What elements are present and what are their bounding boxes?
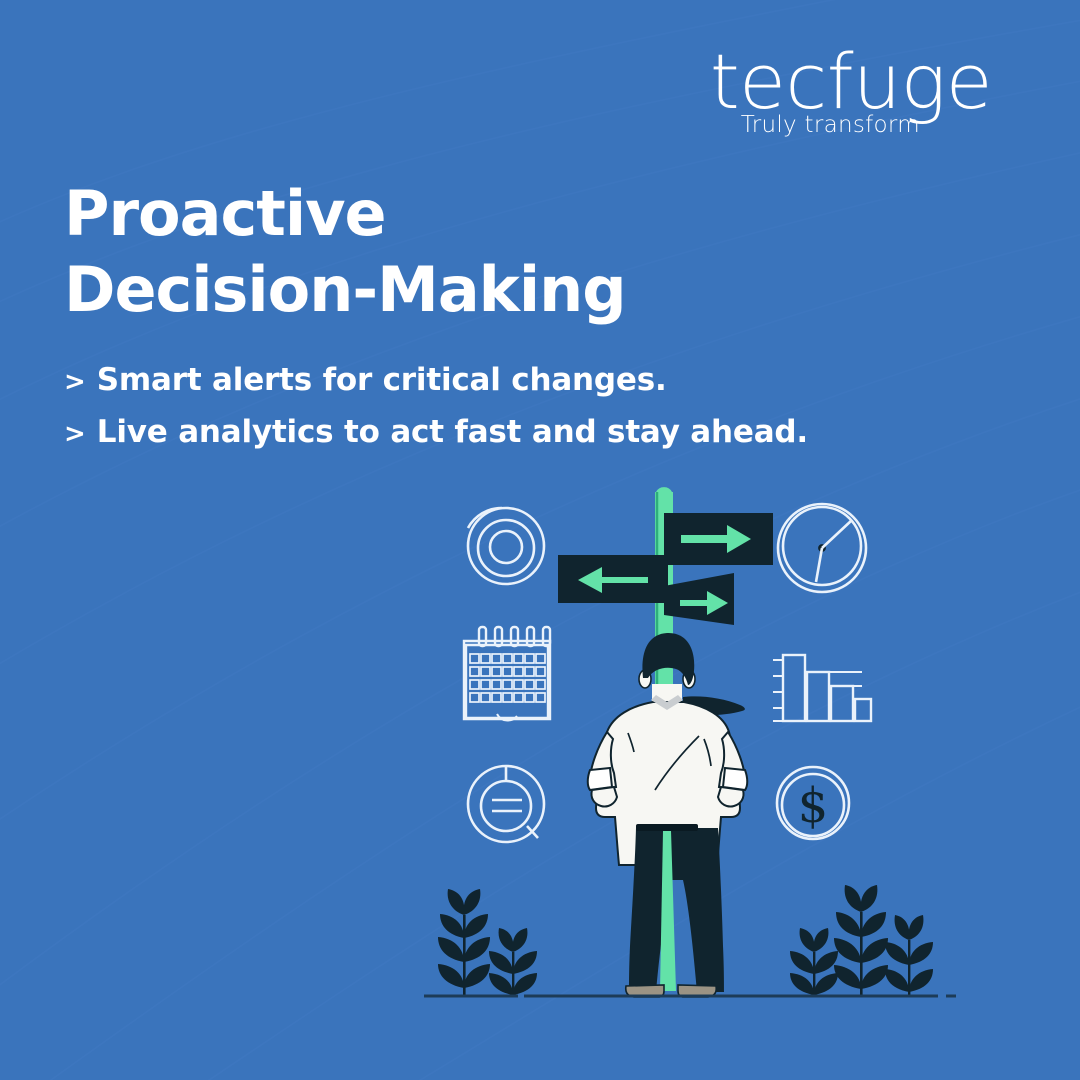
- pie-chart-icon: [468, 766, 544, 842]
- dollar-glyph: $: [798, 778, 829, 834]
- plant: [790, 928, 838, 996]
- bar-chart-ticks: [773, 660, 783, 721]
- target-icon: [468, 508, 544, 584]
- sign-left-middle: [558, 555, 668, 603]
- bar-chart-icon: [773, 655, 871, 721]
- decision-illustration: $: [0, 0, 1080, 1080]
- plants-left: [438, 889, 537, 996]
- sign-right-lower: [664, 573, 734, 625]
- plant: [438, 889, 490, 995]
- plant: [489, 928, 537, 996]
- plants-right: [790, 885, 933, 996]
- social-post-canvas: tecfuge Truly transform Proactive Decisi…: [0, 0, 1080, 1080]
- calendar-icon: [464, 627, 550, 720]
- calendar-grid: [470, 654, 545, 702]
- plant: [885, 915, 933, 996]
- bar-chart-gridlines: [805, 672, 868, 699]
- clock-icon: [778, 504, 866, 592]
- plant: [834, 885, 888, 996]
- sign-right-upper: [664, 513, 773, 565]
- businessman-figure: [588, 633, 748, 997]
- calendar-rings: [479, 627, 550, 646]
- dollar-coin-icon: $: [777, 767, 849, 839]
